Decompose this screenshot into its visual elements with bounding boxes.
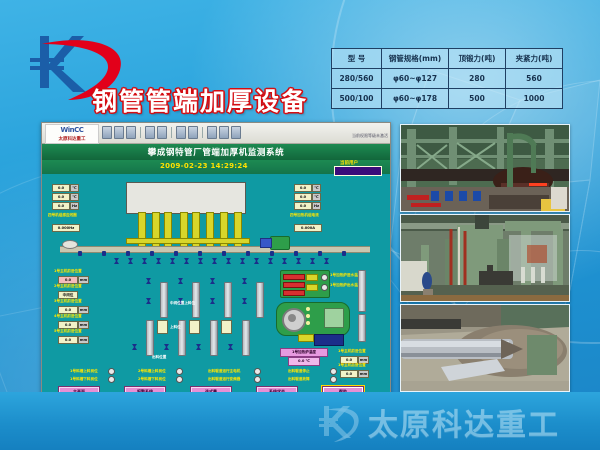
roller	[102, 251, 106, 256]
table-cell: φ60~φ127	[382, 69, 449, 89]
save-icon[interactable]	[114, 126, 124, 139]
meter-unit: ℃	[312, 193, 321, 201]
toolbar-separator	[202, 127, 203, 138]
status-led	[176, 376, 183, 383]
roller	[126, 251, 130, 256]
meter-value: 0.0	[294, 202, 312, 210]
valve-icon	[242, 278, 247, 284]
valve-icon	[196, 344, 201, 350]
table-cell: 500	[449, 89, 506, 109]
valve-indicator	[283, 274, 305, 280]
valve-icon	[132, 344, 137, 350]
connector	[298, 334, 314, 342]
motor-coupling	[260, 238, 272, 248]
hydraulic-cylinder	[192, 282, 200, 318]
clamp-icon	[296, 258, 301, 264]
toolbar-separator	[171, 127, 172, 138]
roller	[294, 251, 298, 256]
clamp-icon	[226, 258, 231, 264]
hydraulic-cylinder	[358, 314, 366, 342]
clamp-icon	[170, 258, 175, 264]
factory-photo-machine	[400, 214, 570, 302]
table-header-cell: 夹紧力(吨)	[506, 49, 563, 69]
hydraulic-cylinder	[242, 320, 250, 356]
roller	[222, 251, 226, 256]
drive-motor	[270, 236, 290, 250]
status-led	[321, 274, 328, 281]
status-label: 2号料槽上料到位	[138, 370, 166, 374]
furnace-column	[180, 212, 188, 250]
valve-icon	[164, 344, 169, 350]
hmi-toolbar: WinCC 太原科达重工 当前权限等级未激活	[42, 123, 390, 144]
hydraulic-cylinder	[224, 282, 232, 318]
table-header-cell: 型 号	[332, 49, 382, 69]
clamp-icon	[240, 258, 245, 264]
hydraulic-cylinder	[210, 320, 218, 356]
roller	[318, 251, 322, 256]
status-led	[108, 368, 115, 375]
status-led	[330, 376, 337, 383]
photo-3-content	[401, 305, 569, 391]
table-header-row: 型 号 钢管规格(mm) 顶锻力(吨) 夹紧力(吨)	[332, 49, 563, 69]
right-label: 1号加热炉出水温度	[330, 284, 361, 288]
valve-icon	[210, 278, 215, 284]
center-label-1: 中间位置上料位	[170, 302, 195, 306]
roller	[78, 251, 82, 256]
furnace-column	[152, 212, 160, 250]
meter-unit: Hz	[70, 202, 79, 210]
valve-indicator	[283, 290, 305, 296]
print-icon[interactable]	[126, 126, 136, 139]
rotary-hub	[288, 314, 296, 322]
status-label: 出料辊道运行变频器	[208, 378, 240, 382]
furnace-column	[138, 212, 146, 250]
clamp-icon	[268, 258, 273, 264]
zoom-icon[interactable]	[176, 126, 186, 139]
indicator-dot	[306, 314, 310, 318]
param-label: 1号主机前进位置	[54, 270, 82, 274]
status-led	[254, 376, 261, 383]
clamp-icon	[156, 258, 161, 264]
status-led	[254, 368, 261, 375]
param-value: 0.0	[58, 321, 78, 329]
furnace-column	[234, 212, 242, 250]
machine-window	[324, 308, 344, 328]
valve-icon	[210, 298, 215, 304]
hydraulic-cylinder	[146, 320, 154, 356]
valve-icon	[242, 298, 247, 304]
pink-value: 0.0 ℃	[288, 357, 320, 366]
table-cell: 280/560	[332, 69, 382, 89]
furnace-column	[192, 212, 200, 250]
param-label: 2号主机前进位置	[54, 285, 82, 289]
status-label: 1号料槽上料到位	[70, 370, 98, 374]
hydraulic-cylinder	[358, 270, 366, 312]
table-header-cell: 顶锻力(吨)	[449, 49, 506, 69]
factory-photo-overview	[400, 124, 570, 212]
meter-value: 0.0	[52, 184, 70, 192]
clamp-icon	[212, 258, 217, 264]
roller	[150, 251, 154, 256]
table-cell: 500/100	[332, 89, 382, 109]
valve-icon	[228, 344, 233, 350]
right-bottom-label: 1号主机后退位置	[338, 364, 366, 368]
param-value: 0.0	[58, 306, 78, 314]
sensor-box	[221, 320, 232, 334]
clamp-icon	[254, 258, 259, 264]
table-cell: 280	[449, 69, 506, 89]
valve-actuator	[306, 284, 318, 291]
param-unit: mm	[78, 336, 89, 344]
status-label: 2号料槽下料到位	[138, 378, 166, 382]
watermark-text: 太原科达重工	[368, 400, 560, 444]
right-bottom-unit: mm	[358, 370, 369, 378]
param-unit: mm	[78, 306, 89, 314]
datetime-display: 2009-02-23 14:29:24	[160, 162, 248, 170]
roller	[342, 251, 346, 256]
clamp-icon	[324, 258, 329, 264]
table-cell: φ60~φ178	[382, 89, 449, 109]
wincc-logo: WinCC 太原科达重工	[45, 124, 99, 144]
photo-1-content	[401, 125, 569, 211]
redo-icon[interactable]	[157, 126, 167, 139]
spec-table: 型 号 钢管规格(mm) 顶锻力(吨) 夹紧力(吨) 280/560 φ60~φ…	[331, 48, 563, 109]
furnace-column	[220, 212, 228, 250]
status-label: 出料辊道故障	[288, 378, 310, 382]
param-value: 中间位	[58, 291, 78, 299]
clamp-icon	[282, 258, 287, 264]
clamp-icon	[128, 258, 133, 264]
meter-unit: Hz	[312, 202, 321, 210]
param-label: 3号主机前进位置	[54, 300, 82, 304]
valve-indicator	[283, 282, 305, 288]
table-cell: 1000	[506, 89, 563, 109]
roller	[174, 251, 178, 256]
param-value: 0.0	[58, 276, 78, 284]
toolbar-icon-group[interactable]	[102, 126, 241, 139]
run-icon[interactable]	[207, 126, 217, 139]
param-label: 5号主机前进位置	[54, 330, 82, 334]
kd-watermark-icon	[318, 402, 362, 442]
status-label: 出料辊道运行主电机	[208, 370, 240, 374]
meter-unit: ℃	[70, 193, 79, 201]
indicator-dot	[306, 321, 310, 325]
status-led	[176, 368, 183, 375]
furnace-column	[206, 212, 214, 250]
clamp-icon	[184, 258, 189, 264]
sensor-box	[189, 320, 200, 334]
drive-unit	[314, 334, 344, 346]
hydraulic-cylinder	[160, 282, 168, 318]
settings-icon[interactable]	[231, 126, 241, 139]
right-group-value: 0.000A	[294, 224, 322, 232]
meter-unit: ℃	[312, 184, 321, 192]
meter-unit: ℃	[70, 184, 79, 192]
valve-actuator	[306, 274, 318, 281]
clamp-icon	[198, 258, 203, 264]
open-icon[interactable]	[102, 126, 112, 139]
meter-value: 0.0	[294, 193, 312, 201]
table-row: 500/100 φ60~φ178 500 1000	[332, 89, 563, 109]
slide-root: 钢管管端加厚设备 型 号 钢管规格(mm) 顶锻力(吨) 夹紧力(吨) 280/…	[0, 0, 600, 450]
toolbar-note: 当前权限等级未激活	[352, 133, 388, 139]
valve-icon	[178, 278, 183, 284]
roller	[198, 251, 202, 256]
factory-photo-pipe-closeup	[400, 304, 570, 392]
param-unit: mm	[78, 276, 89, 284]
status-label: 出料辊道停止	[288, 370, 310, 374]
clamp-icon	[310, 258, 315, 264]
roller	[270, 251, 274, 256]
hmi-mimic-diagram: 0.0 ℃ 0.0 ℃ 0.0 Hz 四号机组感应线圈 0.000Hz 0.0 …	[42, 174, 390, 397]
indicator-dot	[306, 307, 310, 311]
furnace-body	[126, 182, 246, 214]
drive-wheel	[62, 240, 78, 249]
meter-value: 0.0	[52, 202, 70, 210]
hmi-banner-title: 攀成钢特管厂管端加厚机监测系统	[148, 146, 285, 158]
table-cell: 560	[506, 69, 563, 89]
param-label: 4号主机前进位置	[54, 315, 82, 319]
table-header-cell: 钢管规格(mm)	[382, 49, 449, 69]
page-title: 钢管管端加厚设备	[92, 82, 308, 118]
brand-watermark: 太原科达重工	[318, 400, 560, 444]
param-value: 0.0	[58, 336, 78, 344]
hmi-screenshot: WinCC 太原科达重工 当前权限等级未激活 攀成钢特管厂管端	[41, 122, 391, 399]
hmi-status-bar: 2009-02-23 14:29:24 EXIT Login 当前用户	[42, 160, 390, 174]
clamp-icon	[142, 258, 147, 264]
left-group-value: 0.000Hz	[52, 224, 80, 232]
status-led	[321, 284, 328, 291]
valve-icon	[146, 278, 151, 284]
undo-icon[interactable]	[145, 126, 155, 139]
table-row: 280/560 φ60~φ127 280 560	[332, 69, 563, 89]
toolbar-separator	[140, 127, 141, 138]
meter-value: 0.0	[52, 193, 70, 201]
param-unit: mm	[78, 321, 89, 329]
status-led	[330, 368, 337, 375]
roller	[246, 251, 250, 256]
hydraulic-cylinder	[256, 282, 264, 318]
conveyor-rail	[60, 246, 370, 253]
hmi-body: 2009-02-23 14:29:24 EXIT Login 当前用户	[42, 160, 390, 397]
meter-value: 0.0	[294, 184, 312, 192]
stop-icon[interactable]	[219, 126, 229, 139]
valve-icon	[146, 298, 151, 304]
left-group-title: 四号机组感应线圈	[48, 214, 77, 218]
grid-icon[interactable]	[188, 126, 198, 139]
center-label-2: 上料位	[170, 326, 181, 330]
right-label: 1号加热炉进水温度	[330, 274, 361, 278]
right-bottom-value: 0.0	[340, 370, 358, 378]
furnace-column	[164, 212, 172, 250]
sensor-box	[157, 320, 168, 334]
center-label-3: 出料位置	[152, 356, 166, 360]
clamp-icon	[114, 258, 119, 264]
pink-label: 1号加热炉温度	[280, 348, 328, 357]
furnace-base-rail	[126, 238, 250, 244]
status-led	[108, 376, 115, 383]
status-label: 1号料槽下料到位	[70, 378, 98, 382]
right-group-title: 四号加热机组电流	[290, 214, 319, 218]
hmi-banner: 攀成钢特管厂管端加厚机监测系统	[42, 144, 390, 160]
right-bottom-label: 1号主机前进位置	[338, 350, 366, 354]
photo-2-content	[401, 215, 569, 301]
